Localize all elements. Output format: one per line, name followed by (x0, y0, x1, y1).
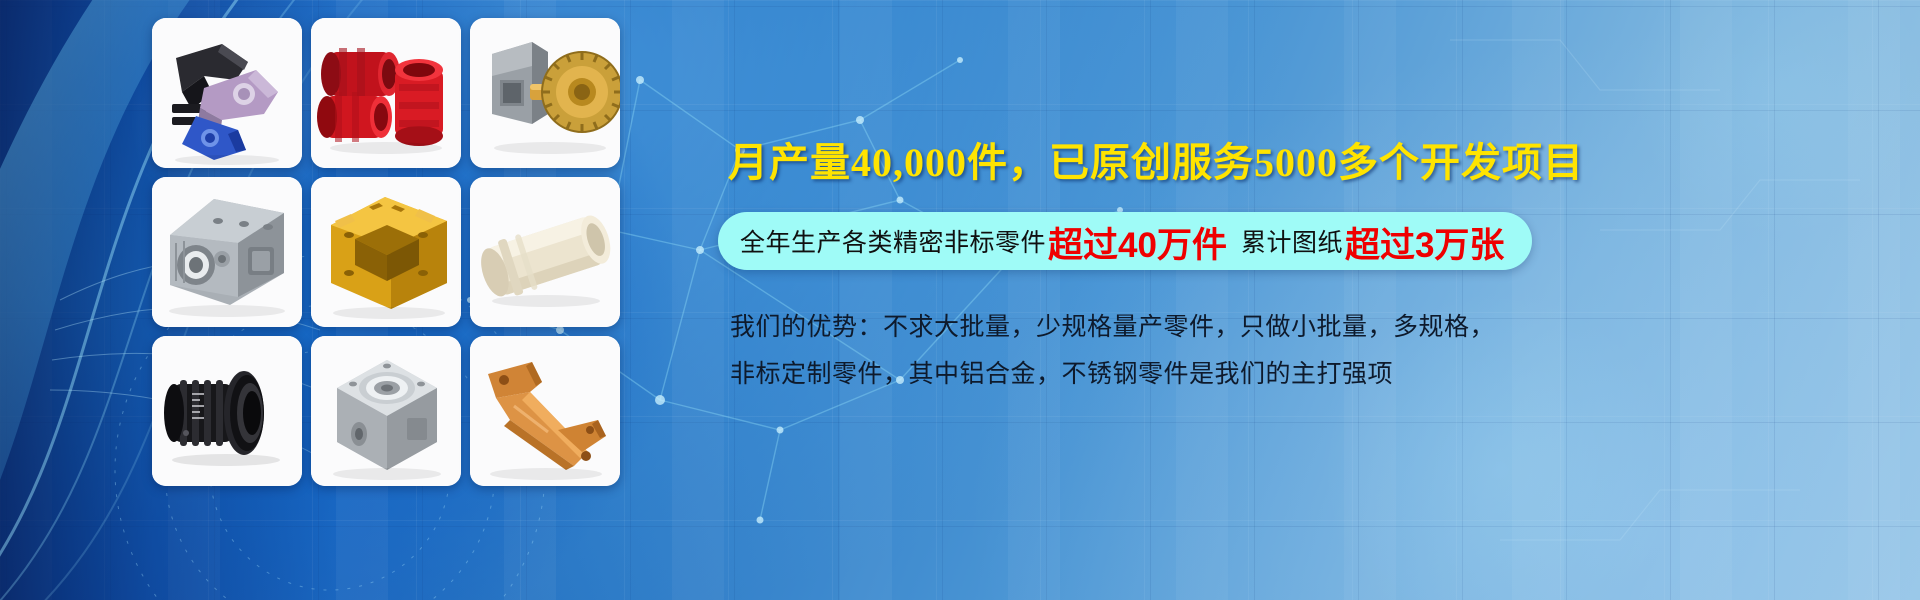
product-gallery (152, 18, 622, 486)
brass-worm-gear-shaft-icon (470, 18, 620, 168)
highlight-text-1: 全年生产各类精密非标零件 (740, 223, 1046, 259)
highlight-emphasis-2: 超过3万张 (1345, 217, 1504, 268)
aluminum-gearbox-housing-icon (152, 177, 302, 327)
stainless-cube-manifold-icon (311, 336, 461, 486)
promo-banner: 月产量40,000件，已原创服务5000多个开发项目 全年生产各类精密非标零件 … (0, 0, 1920, 600)
black-finned-connector-hub-icon (152, 336, 302, 486)
gallery-item-aluminum-gearbox-housing[interactable] (152, 177, 302, 327)
red-anodized-cylinder-housings-icon (311, 18, 461, 168)
gallery-item-copper-structural-arm[interactable] (470, 336, 620, 486)
gallery-item-gold-anodized-frame-plate[interactable] (311, 177, 461, 327)
highlight-text-2: 累计图纸 (1241, 223, 1343, 259)
highlight-pill: 全年生产各类精密非标零件 超过40万件 累计图纸 超过3万张 (718, 212, 1532, 270)
banner-copy: 月产量40,000件，已原创服务5000多个开发项目 全年生产各类精密非标零件 … (718, 130, 1868, 398)
body-copy-line-2: 非标定制零件，其中铝合金，不锈钢零件是我们的主打强项 (730, 351, 1560, 398)
gallery-item-brass-worm-gear-shaft[interactable] (470, 18, 620, 168)
gallery-item-black-finned-connector-hub[interactable] (152, 336, 302, 486)
gallery-item-stainless-cube-manifold[interactable] (311, 336, 461, 486)
headline-text: 月产量40,000件，已原创服务5000多个开发项目 (718, 130, 1868, 188)
gallery-item-anodized-aluminum-brackets[interactable] (152, 18, 302, 168)
gold-anodized-frame-plate-icon (311, 177, 461, 327)
highlight-emphasis-1: 超过40万件 (1048, 217, 1227, 268)
body-copy: 我们的优势：不求大批量，少规格量产零件，只做小批量，多规格， 非标定制零件，其中… (718, 304, 1560, 398)
gallery-item-red-anodized-cylinder-housings[interactable] (311, 18, 461, 168)
body-copy-line-1: 我们的优势：不求大批量，少规格量产零件，只做小批量，多规格， (730, 304, 1560, 351)
white-plastic-tube-fitting-icon (470, 177, 620, 327)
anodized-aluminum-brackets-icon (152, 18, 302, 168)
gallery-item-white-plastic-tube-fitting[interactable] (470, 177, 620, 327)
copper-structural-arm-icon (470, 336, 620, 486)
